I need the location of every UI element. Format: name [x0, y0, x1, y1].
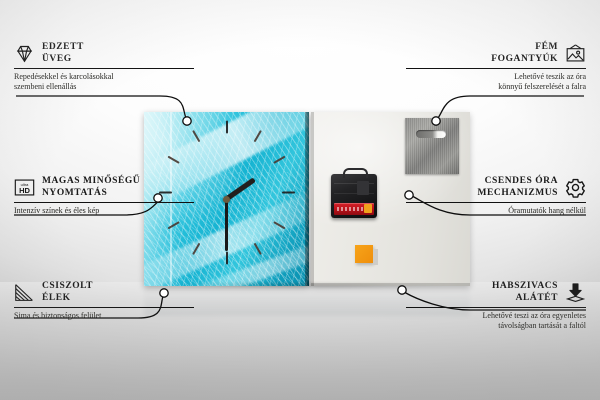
diamond-icon [14, 43, 35, 64]
feature-title-line1: FÉM [491, 42, 558, 54]
divider [14, 202, 194, 203]
feature-title-line1: HABSZIVACS [492, 281, 558, 293]
hatch-lines-icon [14, 282, 35, 303]
feature-title-line2: ALÁTÉT [492, 293, 558, 305]
clock-hour-marker [274, 221, 286, 229]
battery [334, 203, 374, 215]
hanger-keyhole-slot [416, 130, 446, 138]
clock-hour-marker [282, 192, 295, 194]
divider [406, 68, 586, 69]
ultra-hd-icon: ultra HD [14, 177, 35, 198]
metal-hanger-plate [405, 118, 459, 174]
foam-spacer-pad [355, 245, 373, 263]
product-infographic: EDZETT ÜVEG Repedésekkel és karcolásokka… [0, 0, 600, 400]
feature-desc-line1: Lehetővé teszik az óra [406, 72, 586, 82]
clock-hour-marker [253, 130, 261, 142]
battery-label [337, 207, 363, 211]
clock-minute-hand [225, 199, 228, 251]
feature-desc-line2: távolságban tartását a faltól [406, 321, 586, 331]
metal-grain-texture [405, 118, 459, 174]
feature-desc-line1: Óramutatók hang nélkül [406, 206, 586, 216]
feature-title-line2: ÜVEG [42, 54, 84, 66]
clock-hour-marker [167, 221, 179, 229]
foam-pad-side [373, 249, 378, 265]
clock-hour-marker [274, 156, 286, 164]
feature-foam-pad[interactable]: HABSZIVACS ALÁTÉT Lehetővé teszi az óra … [406, 281, 586, 331]
quartz-clock-mechanism [331, 174, 377, 218]
feature-tempered-glass[interactable]: EDZETT ÜVEG Repedésekkel és karcolásokka… [14, 42, 194, 92]
feature-desc-line1: Repedésekkel és karcolásokkal [14, 72, 194, 82]
clock-hour-marker [226, 252, 228, 265]
feature-title-line1: MAGAS MINŐSÉGŰ [42, 176, 140, 188]
gear-icon [565, 177, 586, 198]
feature-desc-line1: Intenzív színek és éles kép [14, 206, 194, 216]
feature-title-line2: NYOMTATÁS [42, 188, 140, 200]
glass-right-edge [305, 112, 309, 286]
clock-hour-marker [192, 243, 200, 255]
divider [14, 68, 194, 69]
clock-hour-marker [167, 156, 179, 164]
mechanism-hook [343, 168, 368, 178]
divider [14, 307, 194, 308]
clock-center-cap [223, 196, 230, 203]
clock-hour-marker [253, 243, 261, 255]
feature-title-line2: MECHANIZMUS [478, 188, 558, 200]
feature-title-line1: CSISZOLT [42, 281, 93, 293]
feature-polished-edges[interactable]: CSISZOLT ÉLEK Sima és biztonságos felüle… [14, 281, 194, 321]
feature-metal-handles[interactable]: FÉM FOGANTYÚK Lehetővé teszik az óra kön… [406, 42, 586, 92]
divider [406, 307, 586, 308]
down-arrow-pad-icon [565, 282, 586, 303]
mechanism-slot [357, 181, 369, 195]
svg-text:HD: HD [19, 186, 30, 195]
battery-plus-terminal [364, 204, 372, 213]
feature-title-line2: ÉLEK [42, 293, 93, 305]
back-panel-left-edge [311, 112, 314, 286]
clock-hour-marker [226, 121, 228, 134]
feature-high-quality-print[interactable]: ultra HD MAGAS MINŐSÉGŰ NYOMTATÁS Intenz… [14, 176, 194, 216]
feature-desc-line2: szembeni ellenállás [14, 82, 194, 92]
divider [406, 202, 586, 203]
feature-title-line1: EDZETT [42, 42, 84, 54]
feature-desc-line1: Sima és biztonságos felület [14, 311, 194, 321]
feature-desc-line1: Lehetővé teszi az óra egyenletes [406, 311, 586, 321]
feature-title-line1: CSENDES ÓRA [478, 176, 558, 188]
picture-hanger-icon [565, 43, 586, 64]
feature-desc-line2: könnyű felszerelését a falra [406, 82, 586, 92]
feature-silent-mechanism[interactable]: CSENDES ÓRA MECHANIZMUS Óramutatók hang … [406, 176, 586, 216]
feature-title-line2: FOGANTYÚK [491, 54, 558, 66]
clock-hour-marker [192, 130, 200, 142]
